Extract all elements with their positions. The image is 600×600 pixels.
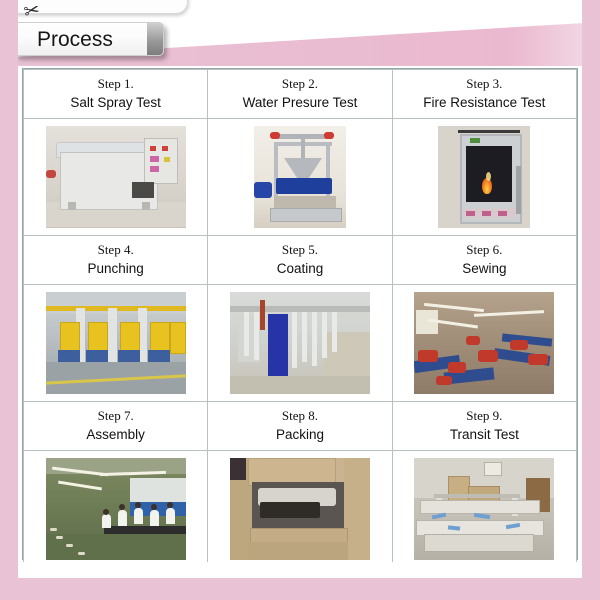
step-number: Step 1. [24, 75, 207, 93]
step-image-cell-2 [208, 119, 392, 236]
process-tab-label: Process [37, 28, 113, 52]
step-image-cell-6 [392, 285, 576, 402]
step-name: Water Presure Test [208, 93, 391, 113]
step-name: Transit Test [393, 425, 576, 445]
step-name: Packing [208, 425, 391, 445]
table-row [24, 119, 577, 236]
step-label-cell-2: Step 2. Water Presure Test [208, 70, 392, 119]
punching-press-workshop-photo [46, 292, 186, 394]
step-image-cell-7 [24, 451, 208, 568]
step-number: Step 5. [208, 241, 391, 259]
page-header: ✂ Process [18, 0, 582, 66]
step-number: Step 9. [393, 407, 576, 425]
water-pressure-test-rig-photo [254, 126, 346, 228]
step-image-cell-5 [208, 285, 392, 402]
step-name: Salt Spray Test [24, 93, 207, 113]
step-number: Step 8. [208, 407, 391, 425]
process-tab[interactable]: Process [18, 22, 164, 56]
step-name: Assembly [24, 425, 207, 445]
step-number: Step 2. [208, 75, 391, 93]
step-label-cell-3: Step 3. Fire Resistance Test [392, 70, 576, 119]
step-number: Step 6. [393, 241, 576, 259]
process-grid: Step 1. Salt Spray Test Step 2. Water Pr… [22, 68, 578, 560]
sewing-workshop-photo [414, 292, 554, 394]
step-name: Punching [24, 259, 207, 279]
transit-vibration-table-photo [414, 458, 554, 560]
step-number: Step 3. [393, 75, 576, 93]
step-label-cell-9: Step 9. Transit Test [392, 402, 576, 451]
header-card [18, 0, 188, 14]
process-table: Step 1. Salt Spray Test Step 2. Water Pr… [23, 69, 577, 568]
step-label-cell-5: Step 5. Coating [208, 236, 392, 285]
table-row [24, 451, 577, 568]
step-number: Step 4. [24, 241, 207, 259]
tab-end-cap [147, 23, 163, 55]
step-name: Coating [208, 259, 391, 279]
step-image-cell-1 [24, 119, 208, 236]
table-row: Step 1. Salt Spray Test Step 2. Water Pr… [24, 70, 577, 119]
process-page: ✂ Process Step 1. Salt Spray Test Step 2… [0, 0, 600, 600]
packing-carton-photo [230, 458, 370, 560]
step-label-cell-8: Step 8. Packing [208, 402, 392, 451]
step-name: Sewing [393, 259, 576, 279]
table-row [24, 285, 577, 402]
step-name: Fire Resistance Test [393, 93, 576, 113]
table-row: Step 7. Assembly Step 8. Packing Step 9.… [24, 402, 577, 451]
step-label-cell-4: Step 4. Punching [24, 236, 208, 285]
content-panel: ✂ Process Step 1. Salt Spray Test Step 2… [18, 0, 582, 578]
step-label-cell-1: Step 1. Salt Spray Test [24, 70, 208, 119]
step-image-cell-3 [392, 119, 576, 236]
bottom-white-strip [18, 562, 582, 578]
fire-resistance-test-cabinet-photo [438, 126, 530, 228]
step-number: Step 7. [24, 407, 207, 425]
salt-spray-test-chamber-photo [46, 126, 186, 228]
table-row: Step 4. Punching Step 5. Coating Step 6.… [24, 236, 577, 285]
step-label-cell-7: Step 7. Assembly [24, 402, 208, 451]
step-image-cell-9 [392, 451, 576, 568]
step-image-cell-4 [24, 285, 208, 402]
assembly-line-photo [46, 458, 186, 560]
step-label-cell-6: Step 6. Sewing [392, 236, 576, 285]
coating-line-photo [230, 292, 370, 394]
step-image-cell-8 [208, 451, 392, 568]
